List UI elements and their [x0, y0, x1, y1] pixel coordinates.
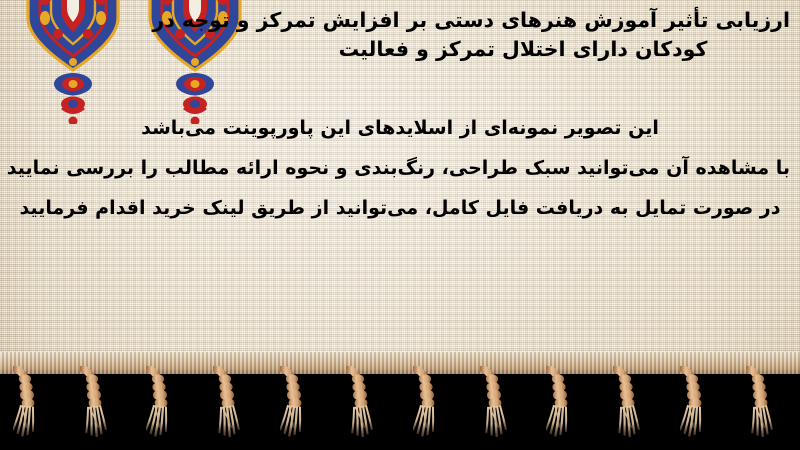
slide-body: این تصویر نمونه‌ای از اسلایدهای این پاور…	[10, 108, 790, 228]
slide-canvas: ارزیابی تأثیر آموزش هنرهای دستی بر افزای…	[0, 0, 800, 450]
title-line-1: ارزیابی تأثیر آموزش هنرهای دستی بر افزای…	[210, 6, 790, 35]
body-line-1: این تصویر نمونه‌ای از اسلایدهای این پاور…	[10, 108, 790, 148]
fringe-tassel	[480, 366, 510, 446]
slide-text-layer: ارزیابی تأثیر آموزش هنرهای دستی بر افزای…	[0, 0, 800, 372]
body-line-2: با مشاهده آن می‌توانید سبک طراحی، رنگ‌بن…	[10, 148, 790, 188]
fringe-tassel	[546, 366, 576, 446]
fringe-tassel	[80, 366, 110, 446]
fringe-tassel	[613, 366, 643, 446]
fringe-tassel	[346, 366, 376, 446]
title-line-2: کودکان دارای اختلال تمرکز و فعالیت	[210, 35, 790, 64]
fringe-tassel	[213, 366, 243, 446]
carpet-fringe	[0, 352, 800, 450]
fringe-tassel	[146, 366, 176, 446]
fringe-tassel	[746, 366, 776, 446]
fringe-tassel	[13, 366, 43, 446]
fringe-tassel	[280, 366, 310, 446]
body-line-3: در صورت تمایل به دریافت فایل کامل، می‌تو…	[10, 188, 790, 228]
fringe-tassel	[413, 366, 443, 446]
fringe-tassel	[680, 366, 710, 446]
slide-title: ارزیابی تأثیر آموزش هنرهای دستی بر افزای…	[210, 6, 790, 64]
